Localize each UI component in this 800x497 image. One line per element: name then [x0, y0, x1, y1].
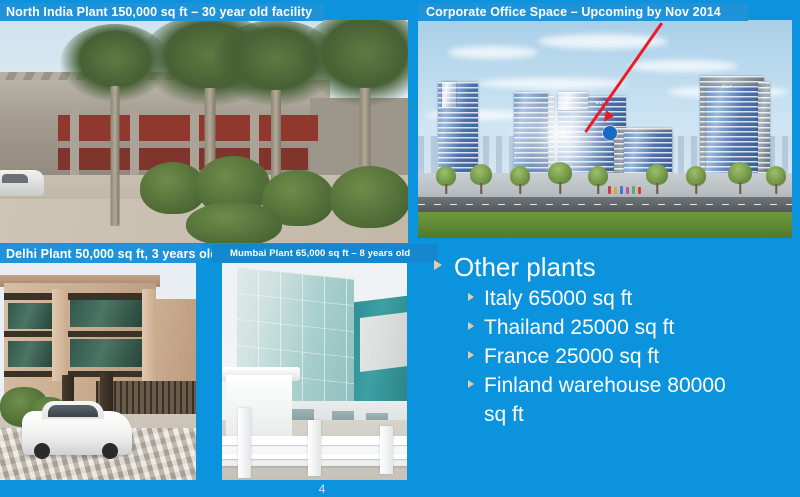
slide-canvas: North India Plant 150,000 sq ft – 30 yea…: [0, 0, 800, 497]
tree: [548, 162, 572, 194]
fence-post: [380, 426, 393, 474]
car-wheel: [34, 443, 50, 459]
tree: [588, 166, 608, 194]
triangle-right-icon: [434, 260, 442, 270]
parked-car: [0, 170, 44, 196]
other-plants-heading: Other plants: [454, 250, 596, 284]
location-dot-icon: [603, 126, 617, 140]
fence-post: [238, 408, 251, 478]
tree: [470, 164, 492, 194]
tree: [646, 164, 668, 194]
tree: [436, 166, 456, 194]
triangle-right-icon: [468, 351, 474, 359]
gatehouse: [226, 375, 292, 441]
caption-corporate-office: Corporate Office Space – Upcoming by Nov…: [418, 3, 748, 21]
cloud: [448, 46, 538, 59]
triangle-right-icon: [468, 322, 474, 330]
person-figure: [638, 187, 641, 194]
car-window: [48, 405, 98, 417]
facade-pier: [52, 289, 68, 381]
list-item-label: Thailand 25000 sq ft: [484, 313, 674, 342]
tree: [510, 166, 530, 194]
caption-delhi-plant: Delhi Plant 50,000 sq ft, 3 years old: [0, 244, 202, 263]
caption-mumbai-plant: Mumbai Plant 65,000 sq ft – 8 years old: [212, 244, 438, 263]
tree: [686, 166, 706, 194]
person-figure: [626, 187, 629, 194]
fence-post: [308, 420, 321, 476]
list-item: France 25000 sq ft: [468, 342, 788, 371]
person-figure: [620, 186, 623, 194]
person-figure: [632, 186, 635, 194]
cloud: [628, 60, 738, 72]
shrub: [330, 166, 408, 228]
tree: [728, 162, 752, 194]
tower-crown: [442, 82, 456, 108]
list-item: Thailand 25000 sq ft: [468, 313, 788, 342]
other-plants-text-block: Other plants Italy 65000 sq ft Thailand …: [428, 250, 788, 429]
window-band: [8, 341, 52, 367]
caption-north-india-plant: North India Plant 150,000 sq ft – 30 yea…: [0, 3, 324, 21]
triangle-right-icon: [468, 380, 474, 388]
triangle-right-icon: [468, 293, 474, 301]
building-logo: DLF: [722, 84, 733, 89]
road: [418, 197, 792, 212]
bullet-heading-other-plants: Other plants: [428, 250, 788, 284]
facade-band: [4, 371, 154, 377]
list-item-label: Finland warehouse 80000 sq ft: [484, 371, 739, 429]
page-number: 4: [0, 482, 644, 496]
road-markings: [418, 204, 792, 205]
window-band: [70, 299, 142, 327]
facade-band: [4, 331, 154, 337]
facade-pier: [142, 289, 156, 381]
photo-delhi-plant: [0, 263, 196, 480]
window-band: [70, 339, 142, 367]
lawn: [418, 212, 792, 238]
shrub: [186, 202, 282, 243]
parked-car: [22, 411, 132, 455]
facade-band: [4, 293, 154, 300]
car-wheel: [102, 443, 118, 459]
list-item: Finland warehouse 80000 sq ft: [468, 371, 788, 429]
list-item-label: France 25000 sq ft: [484, 342, 659, 371]
window-band: [8, 303, 52, 329]
list-item: Italy 65000 sq ft: [468, 284, 788, 313]
photo-north-india-plant: [0, 20, 408, 243]
list-item-label: Italy 65000 sq ft: [484, 284, 632, 313]
person-figure: [608, 186, 611, 194]
photo-mumbai-plant: [222, 263, 407, 480]
tree: [766, 166, 786, 194]
side-panel: [360, 312, 407, 372]
person-figure: [614, 187, 617, 194]
